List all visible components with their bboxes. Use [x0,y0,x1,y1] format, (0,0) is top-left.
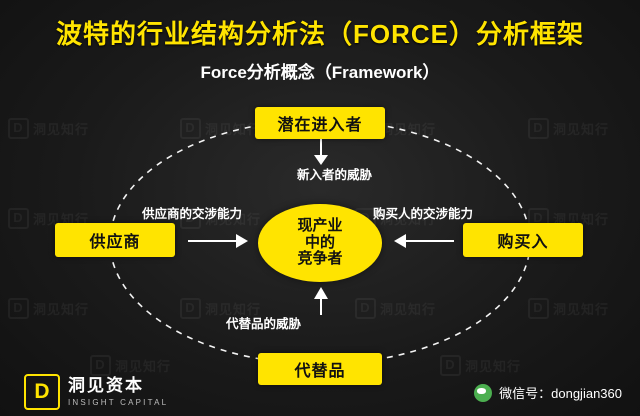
edge-label-threat-of-new-entrants: 新入者的威胁 [297,164,372,183]
logo-text-en: INSIGHT CAPITAL [68,398,168,407]
center-line-1: 现产业 [297,218,342,235]
node-industry-competitors[interactable]: 现产业 中的 竞争者 [258,204,382,282]
page-subtitle: Force分析概念（Framework） [0,58,640,83]
force-framework-diagram: 新入者的威胁 供应商的交涉能力 购买人的交涉能力 代替品的威胁 潜在进入者 供应… [0,95,640,385]
wechat-contact: 微信号：dongjian360 [474,383,622,402]
wechat-id-text: 微信号：dongjian360 [499,383,622,402]
brand-logo: D 洞见资本 INSIGHT CAPITAL [24,374,168,410]
edge-label-supplier-power: 供应商的交涉能力 [142,203,242,222]
poster-canvas: D洞见知行D洞见知行D洞见知行D洞见知行D洞见知行D洞见知行D洞见知行D洞见知行… [0,0,640,416]
arrow-top-to-center [310,139,332,165]
node-suppliers[interactable]: 供应商 [55,223,175,257]
logo-text: 洞见资本 INSIGHT CAPITAL [68,377,168,407]
wechat-icon [474,384,492,402]
arrow-bottom-to-center [310,287,332,315]
edge-label-threat-of-substitutes: 代替品的威胁 [226,313,301,332]
arrow-left-to-center [188,231,250,251]
arrow-right-to-center [392,231,454,251]
edge-label-buyer-power: 购买人的交涉能力 [373,203,473,222]
logo-d-icon: D [24,374,60,410]
page-title: 波特的行业结构分析法（FORCE）分析框架 [0,14,640,51]
logo-text-cn: 洞见资本 [68,377,168,396]
center-line-3: 竞争者 [297,251,342,268]
footer-bar: D 洞见资本 INSIGHT CAPITAL 微信号：dongjian360 [0,370,640,416]
node-buyers[interactable]: 购买入 [463,223,583,257]
center-line-2: 中的 [305,235,335,252]
node-potential-entrants[interactable]: 潜在进入者 [255,107,385,139]
